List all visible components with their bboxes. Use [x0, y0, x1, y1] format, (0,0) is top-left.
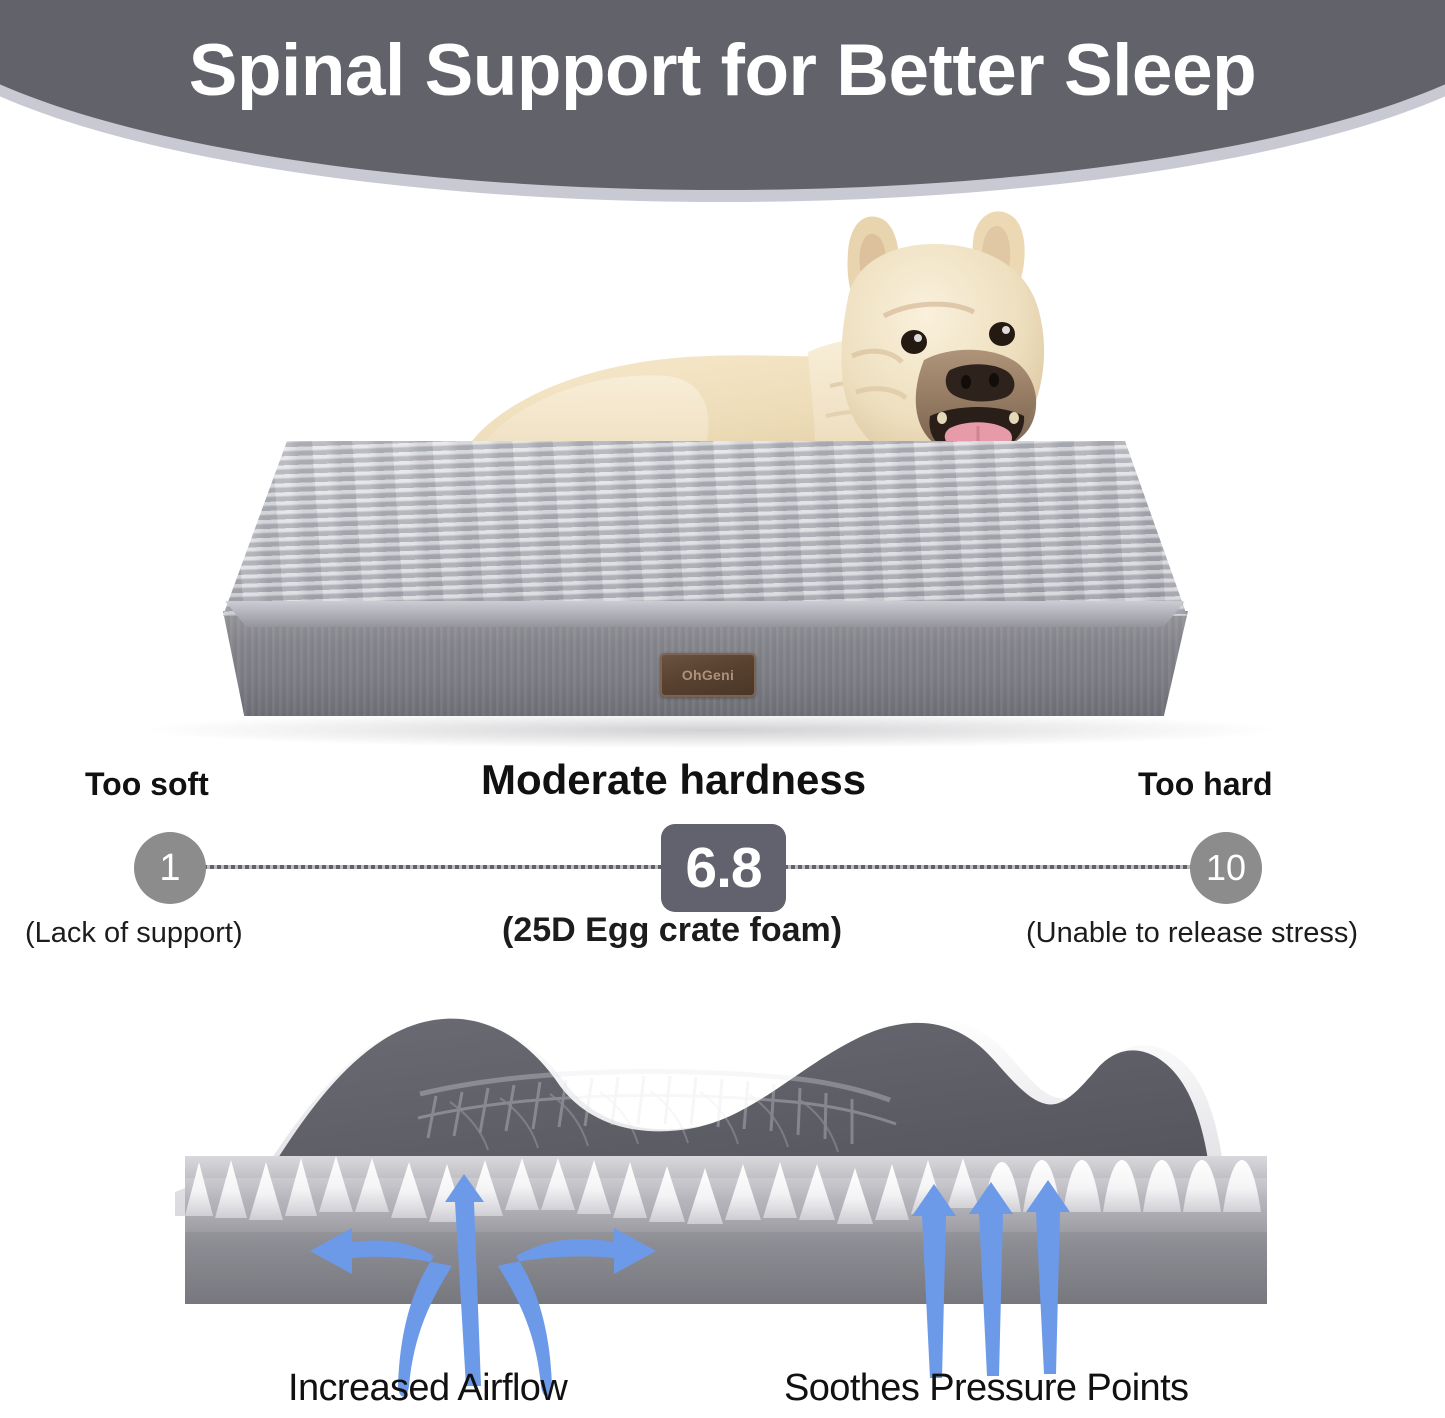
bed-front-edge — [219, 601, 1191, 627]
scale-sub-too-hard: (Unable to release stress) — [1026, 917, 1358, 950]
brand-label-text: OhGeni — [682, 667, 734, 683]
dog-bed: OhGeni — [205, 441, 1205, 741]
scale-label-too-hard: Too hard — [1138, 766, 1273, 803]
hardness-scale: Too soft Moderate hardness Too hard 1 6.… — [0, 766, 1445, 966]
scale-sub-too-soft: (Lack of support) — [25, 917, 243, 950]
scale-label-moderate: Moderate hardness — [481, 756, 866, 804]
scale-sub-moderate: (25D Egg crate foam) — [502, 911, 842, 950]
scale-marker-max: 10 — [1190, 832, 1262, 904]
product-photo: OhGeni — [0, 196, 1445, 766]
brand-label: OhGeni — [660, 653, 756, 697]
scale-marker-min: 1 — [134, 832, 206, 904]
scale-value-badge: 6.8 — [661, 824, 786, 912]
page-title: Spinal Support for Better Sleep — [0, 34, 1445, 107]
airflow-label: Increased Airflow — [288, 1367, 567, 1410]
scale-label-too-soft: Too soft — [85, 766, 209, 803]
pressure-label: Soothes Pressure Points — [784, 1367, 1188, 1410]
foam-cross-section-diagram — [0, 966, 1445, 1418]
pressure-arrows — [912, 1180, 1070, 1378]
